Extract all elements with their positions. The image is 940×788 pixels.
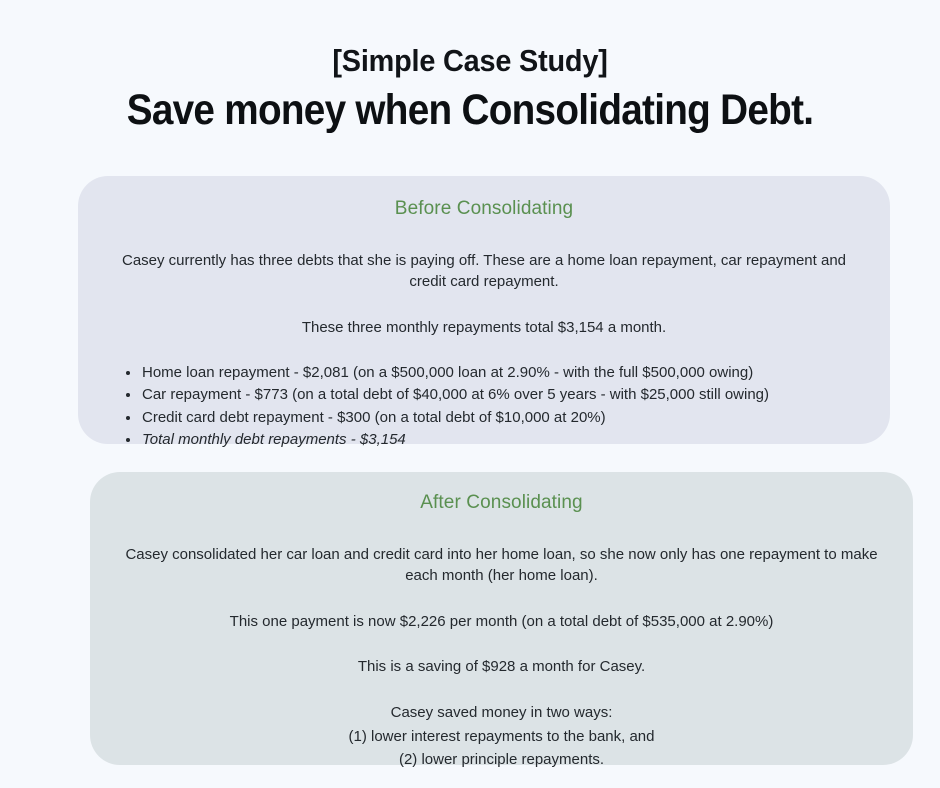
before-card-title: Before Consolidating (104, 190, 864, 220)
after-intro-text: Casey consolidated her car loan and cred… (116, 544, 887, 587)
before-debt-list: Home loan repayment - $2,081 (on a $500,… (104, 362, 864, 452)
list-item: Home loan repayment - $2,081 (on a $500,… (126, 362, 864, 385)
after-payment-text: This one payment is now $2,226 per month… (116, 611, 887, 632)
savings-way-one: (1) lower interest repayments to the ban… (116, 725, 887, 748)
before-consolidating-card: Before Consolidating Casey currently has… (78, 176, 890, 444)
list-item: Credit card debt repayment - $300 (on a … (126, 407, 864, 430)
list-item: Car repayment - $773 (on a total debt of… (126, 384, 864, 407)
page-title: Save money when Consolidating Debt. (47, 86, 893, 134)
after-card-title: After Consolidating (116, 484, 887, 514)
list-item: Total monthly debt repayments - $3,154 (126, 429, 864, 452)
before-intro-text: Casey currently has three debts that she… (104, 250, 864, 293)
eyebrow-label: [Simple Case Study] (33, 44, 907, 78)
case-study-page: [Simple Case Study] Save money when Cons… (0, 0, 940, 788)
savings-heading: Casey saved money in two ways: (116, 701, 887, 724)
before-total-text: These three monthly repayments total $3,… (104, 317, 864, 338)
savings-way-two: (2) lower principle repayments. (116, 748, 887, 771)
savings-breakdown: Casey saved money in two ways: (1) lower… (116, 701, 887, 771)
after-consolidating-card: After Consolidating Casey consolidated h… (90, 472, 913, 765)
page-header: [Simple Case Study] Save money when Cons… (0, 0, 940, 134)
after-saving-text: This is a saving of $928 a month for Cas… (116, 656, 887, 677)
